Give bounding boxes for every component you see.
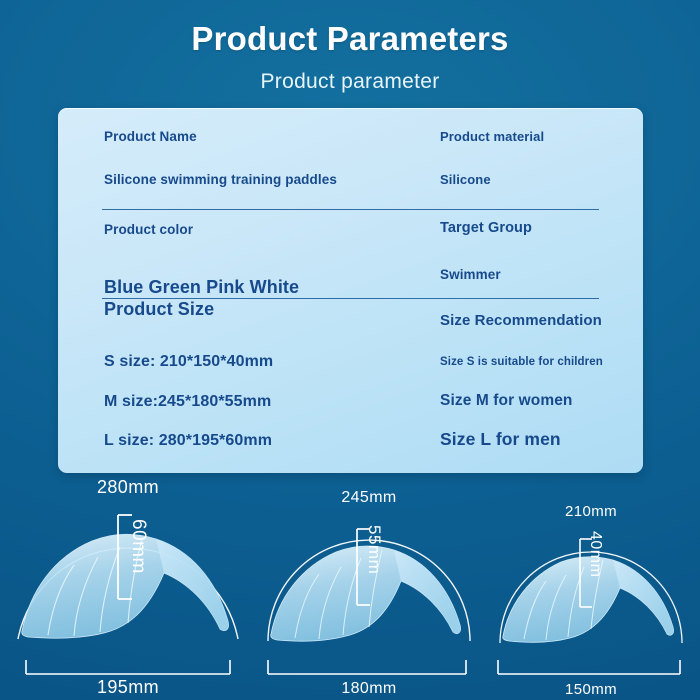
- value-recommendation-l: Size L for men: [440, 430, 561, 449]
- value-product-material: Silicone: [440, 173, 491, 187]
- value-product-name: Silicone swimming training paddles: [104, 173, 337, 188]
- dimension-height-label-m: 55mm: [364, 525, 384, 574]
- label-product-name: Product Name: [104, 130, 197, 145]
- value-size-s: S size: 210*150*40mm: [104, 353, 273, 371]
- product-panel-m: 245mm: [258, 473, 480, 700]
- value-size-l: L size: 280*195*60mm: [104, 432, 272, 450]
- product-panel-l: 280mm: [8, 473, 248, 700]
- label-size-recommendation: Size Recommendation: [440, 313, 602, 330]
- width-bracket-l: [8, 658, 248, 678]
- label-product-material: Product material: [440, 130, 544, 144]
- label-target-group: Target Group: [440, 221, 532, 237]
- width-bracket-s: [490, 658, 692, 678]
- dimension-width-label-l: 195mm: [8, 677, 248, 698]
- paddle-wing-right-s: [613, 560, 674, 635]
- paddle-wing-right-m: [394, 550, 461, 634]
- page-title: Product Parameters: [0, 20, 700, 58]
- dimension-height-label-s: 40mm: [586, 531, 604, 577]
- value-recommendation-m: Size M for women: [440, 392, 573, 409]
- spec-card: Product Name Silicone swimming training …: [58, 108, 643, 473]
- dimension-width-label-m: 180mm: [258, 680, 480, 698]
- dimension-arc-label-l: 280mm: [8, 477, 248, 498]
- label-product-size: Product Size: [104, 300, 214, 320]
- dimension-width-label-s: 150mm: [490, 681, 692, 698]
- dimension-arc-label-s: 210mm: [490, 503, 692, 520]
- value-product-color: Blue Green Pink White: [104, 278, 299, 298]
- dimension-height-label-l: 60mm: [127, 519, 149, 574]
- value-size-m: M size:245*180*55mm: [104, 393, 271, 411]
- dimension-arc-label-m: 245mm: [258, 489, 480, 507]
- page-subtitle: Product parameter: [0, 70, 700, 94]
- value-target-group: Swimmer: [440, 268, 501, 283]
- product-panel-s: 210mm: [490, 473, 692, 700]
- product-size-panels: 280mm: [0, 473, 700, 700]
- width-bracket-m: [258, 658, 480, 678]
- paddle-wing-right-l: [156, 539, 229, 631]
- label-product-color: Product color: [104, 223, 193, 238]
- table-divider-1: [102, 209, 599, 210]
- value-recommendation-s: Size S is suitable for children: [440, 356, 603, 369]
- product-parameters-infographic: Product Parameters Product parameter Pro…: [0, 0, 700, 700]
